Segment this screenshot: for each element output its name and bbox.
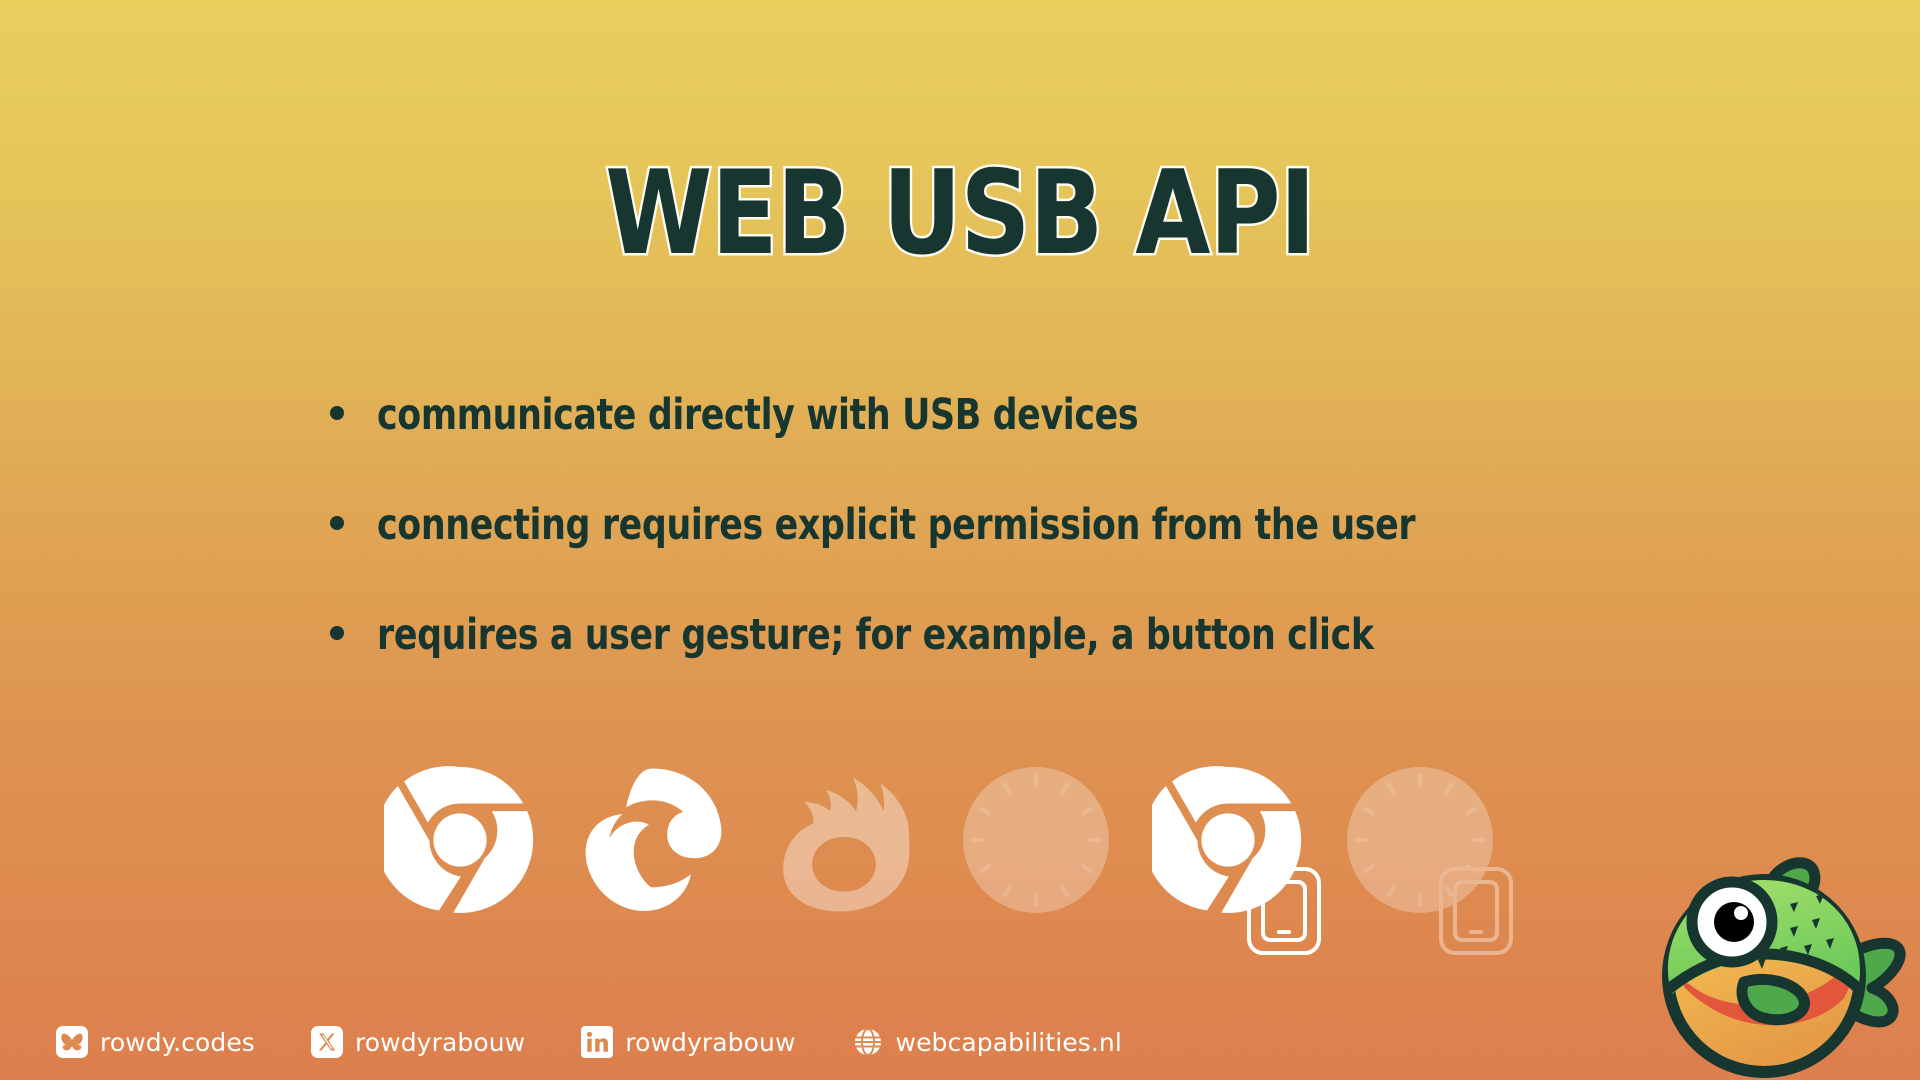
browser-edge (576, 764, 728, 916)
footer-link-label: rowdyrabouw (355, 1028, 525, 1057)
list-item: communicate directly with USB devices (330, 390, 1830, 440)
footer-link-label: rowdy.codes (100, 1028, 255, 1057)
browser-safari-ios (1344, 764, 1496, 916)
footer-link-label: webcapabilities.nl (896, 1028, 1122, 1057)
bullet-dot-icon (330, 516, 344, 530)
safari-icon (960, 764, 1112, 916)
footer-link-website[interactable]: webcapabilities.nl (852, 1026, 1122, 1058)
footer-social-links: rowdy.codes rowdyrabouw rowdyrabouw we (56, 1026, 1122, 1058)
firefox-icon (768, 764, 920, 916)
bullet-text: communicate directly with USB devices (377, 390, 1138, 440)
footer-link-label: rowdyrabouw (625, 1028, 795, 1057)
browser-chrome (384, 764, 536, 916)
list-item: connecting requires explicit permission … (330, 500, 1830, 550)
browser-firefox (768, 764, 920, 916)
mobile-device-icon (1438, 866, 1514, 956)
linkedin-icon (581, 1026, 613, 1058)
bullet-list: communicate directly with USB devices co… (330, 390, 1830, 720)
mascot-pupil (1714, 902, 1754, 942)
bluesky-butterfly-icon (56, 1026, 88, 1058)
mobile-device-icon (1246, 866, 1322, 956)
bullet-text: requires a user gesture; for example, a … (377, 610, 1374, 660)
globe-icon (852, 1026, 884, 1058)
browser-support-row (384, 764, 1496, 916)
browser-safari (960, 764, 1112, 916)
mascot-pectoral-fin (1742, 979, 1804, 1019)
mascot-eye-glint (1734, 906, 1748, 920)
page-title: WEB USB API (67, 156, 1853, 272)
list-item: requires a user gesture; for example, a … (330, 610, 1830, 660)
edge-icon (576, 764, 728, 916)
footer-link-linkedin[interactable]: rowdyrabouw (581, 1026, 795, 1058)
footer-link-bluesky[interactable]: rowdy.codes (56, 1026, 255, 1058)
x-twitter-icon (311, 1026, 343, 1058)
bullet-dot-icon (330, 626, 344, 640)
browser-chrome-android (1152, 764, 1304, 916)
footer-link-x[interactable]: rowdyrabouw (311, 1026, 525, 1058)
chrome-icon (384, 764, 536, 916)
bullet-text: connecting requires explicit permission … (377, 500, 1415, 550)
bullet-dot-icon (330, 406, 344, 420)
pufferfish-mascot (1640, 852, 1912, 1080)
